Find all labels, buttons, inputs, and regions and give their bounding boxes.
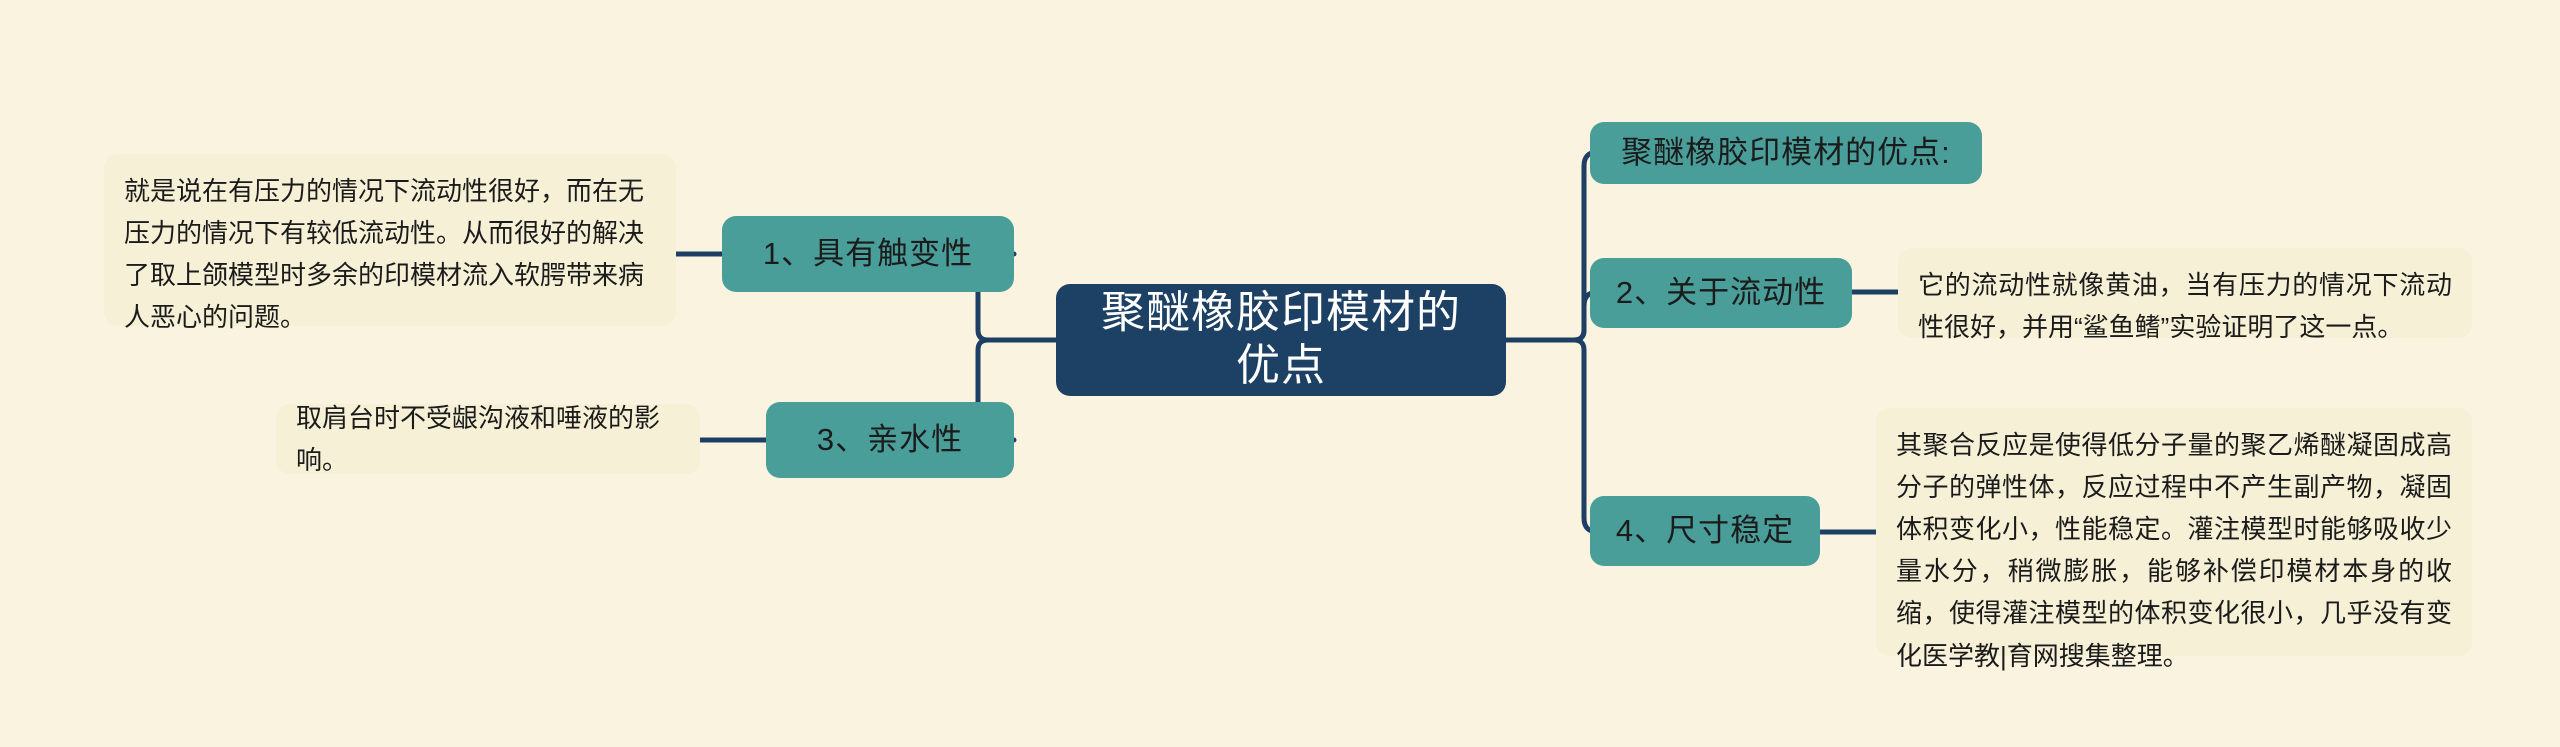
note-left-1-text: 就是说在有压力的情况下流动性很好，而在无压力的情况下有较低流动性。从而很好的解决… <box>124 176 644 332</box>
note-left-1: 就是说在有压力的情况下流动性很好，而在无压力的情况下有较低流动性。从而很好的解决… <box>104 154 676 326</box>
note-right-2: 它的流动性就像黄油，当有压力的情况下流动性很好，并用“鲨鱼鳍”实验证明了这一点。 <box>1898 248 2472 338</box>
mindmap-canvas: 聚醚橡胶印模材的优点 1、具有触变性 就是说在有压力的情况下流动性很好，而在无压… <box>0 0 2560 747</box>
branch-node-left-1[interactable]: 1、具有触变性 <box>722 216 1014 292</box>
note-right-2-text: 它的流动性就像黄油，当有压力的情况下流动性很好，并用“鲨鱼鳍”实验证明了这一点。 <box>1918 270 2452 342</box>
branch-node-right-2[interactable]: 2、关于流动性 <box>1590 258 1852 328</box>
branch-node-right-1-label: 聚醚橡胶印模材的优点: <box>1621 134 1951 173</box>
root-node[interactable]: 聚醚橡胶印模材的优点 <box>1056 284 1506 396</box>
note-left-2-text: 取肩台时不受龈沟液和唾液的影响。 <box>296 397 680 481</box>
branch-node-left-1-label: 1、具有触变性 <box>763 235 973 274</box>
branch-node-right-1[interactable]: 聚醚橡胶印模材的优点: <box>1590 122 1982 184</box>
note-right-3-text: 其聚合反应是使得低分子量的聚乙烯醚凝固成高分子的弹性体，反应过程中不产生副产物，… <box>1896 430 2452 671</box>
branch-node-left-2[interactable]: 3、亲水性 <box>766 402 1014 478</box>
note-right-3: 其聚合反应是使得低分子量的聚乙烯醚凝固成高分子的弹性体，反应过程中不产生副产物，… <box>1876 408 2472 656</box>
root-node-label: 聚醚橡胶印模材的优点 <box>1082 287 1480 393</box>
branch-node-right-2-label: 2、关于流动性 <box>1616 274 1826 313</box>
branch-node-right-3-label: 4、尺寸稳定 <box>1616 512 1794 551</box>
note-left-2: 取肩台时不受龈沟液和唾液的影响。 <box>276 404 700 474</box>
branch-node-right-3[interactable]: 4、尺寸稳定 <box>1590 496 1820 566</box>
branch-node-left-2-label: 3、亲水性 <box>817 421 963 460</box>
